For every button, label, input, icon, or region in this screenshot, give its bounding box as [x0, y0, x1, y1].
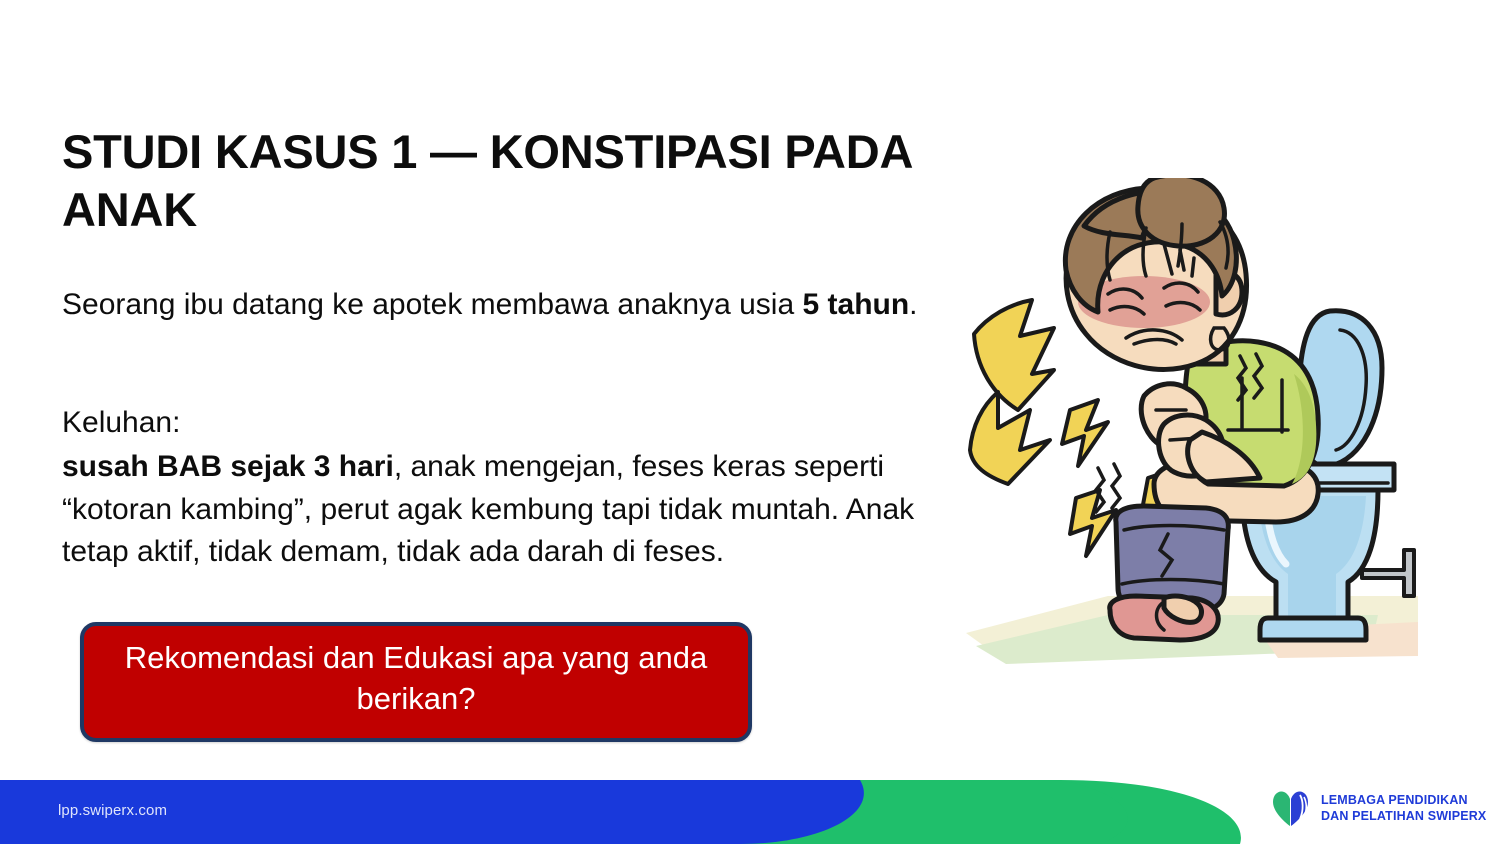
logo-wordmark: LEMBAGA PENDIDIKAN DAN PELATIHAN SWIPERX	[1321, 792, 1486, 824]
intro-prefix-text: Seorang ibu datang ke apotek membawa ana…	[62, 288, 803, 321]
intro-suffix-text: .	[909, 288, 917, 321]
slide-canvas: STUDI KASUS 1 — KONSTIPASI PADA ANAK Seo…	[0, 0, 1500, 844]
logo-line-1: LEMBAGA PENDIDIKAN	[1321, 792, 1486, 808]
question-callout-box[interactable]: Rekomendasi dan Edukasi apa yang anda be…	[80, 622, 752, 742]
case-intro-paragraph: Seorang ibu datang ke apotek membawa ana…	[62, 284, 957, 327]
page-title: STUDI KASUS 1 — KONSTIPASI PADA ANAK	[62, 123, 962, 238]
complaint-highlight-bold: susah BAB sejak 3 hari	[62, 450, 394, 483]
heart-logo-icon	[1270, 788, 1312, 828]
swiperx-heart-logo: LEMBAGA PENDIDIKAN DAN PELATIHAN SWIPERX	[1270, 784, 1470, 832]
question-callout-text: Rekomendasi dan Edukasi apa yang anda be…	[110, 638, 722, 720]
child-straining-on-toilet-illustration: .ol { stroke:#1A1A1A; stroke-width:5; st…	[958, 178, 1418, 670]
complaint-label: Keluhan:	[62, 402, 957, 445]
logo-line-2: DAN PELATIHAN SWIPERX	[1321, 808, 1486, 824]
complaint-paragraph: susah BAB sejak 3 hari, anak mengejan, f…	[62, 446, 957, 574]
intro-age-bold: 5 tahun	[803, 288, 910, 321]
footer-url-text: lpp.swiperx.com	[58, 802, 167, 819]
